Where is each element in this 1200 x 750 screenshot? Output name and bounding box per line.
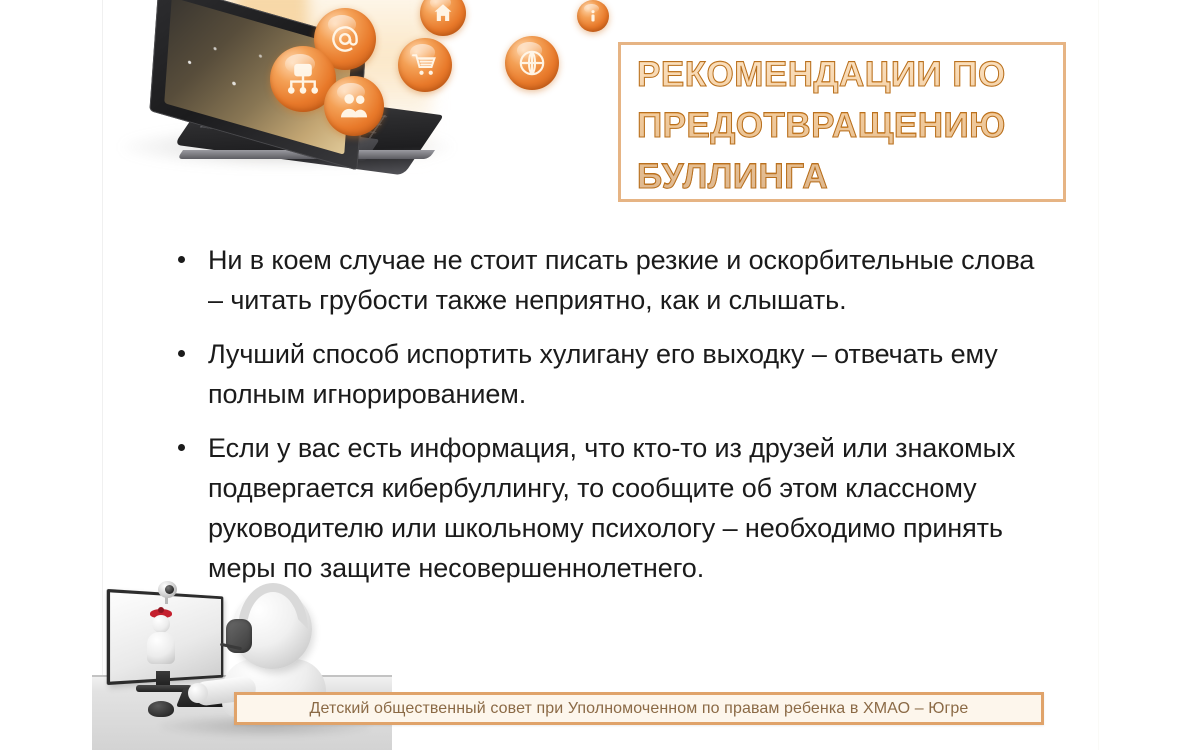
figure-hand: [188, 683, 208, 703]
mouse-icon: [148, 701, 174, 717]
title-panel: РЕКОМЕНДАЦИИ ПО ПРЕДОТВРАЩЕНИЮ БУЛЛИНГА: [618, 42, 1066, 202]
bullet-dot-icon: [178, 256, 185, 263]
globe-icon: [505, 36, 559, 90]
hero-illustration: [118, 0, 618, 202]
shopping-cart-icon: [398, 38, 452, 92]
slide-canvas: РЕКОМЕНДАЦИИ ПО ПРЕДОТВРАЩЕНИЮ БУЛЛИНГА …: [0, 0, 1200, 750]
slide-edge-right: [1098, 0, 1099, 750]
list-item-text: Если у вас есть информация, что кто-то и…: [208, 428, 1054, 588]
page-title: РЕКОМЕНДАЦИИ ПО ПРЕДОТВРАЩЕНИЮ БУЛЛИНГА: [637, 49, 1057, 202]
on-screen-person-body: [147, 632, 175, 664]
list-item: Ни в коем случае не стоит писать резкие …: [174, 240, 1054, 320]
list-item: Если у вас есть информация, что кто-то и…: [174, 428, 1054, 588]
list-item-text: Ни в коем случае не стоит писать резкие …: [208, 240, 1054, 320]
footer-text: Детский общественный совет при Уполномоч…: [310, 700, 969, 718]
users-icon: [324, 76, 384, 136]
info-icon: [577, 0, 609, 32]
list-item-text: Лучший способ испортить хулигану его вых…: [208, 334, 1054, 414]
on-screen-person-head: [152, 615, 170, 633]
webcam-lens: [165, 585, 174, 594]
list-item: Лучший способ испортить хулигану его вых…: [174, 334, 1054, 414]
footer-banner: Детский общественный совет при Уполномоч…: [234, 692, 1044, 725]
bullet-dot-icon: [178, 444, 185, 451]
recommendations-list: Ни в коем случае не стоит писать резкие …: [174, 240, 1054, 588]
bullet-dot-icon: [178, 350, 185, 357]
